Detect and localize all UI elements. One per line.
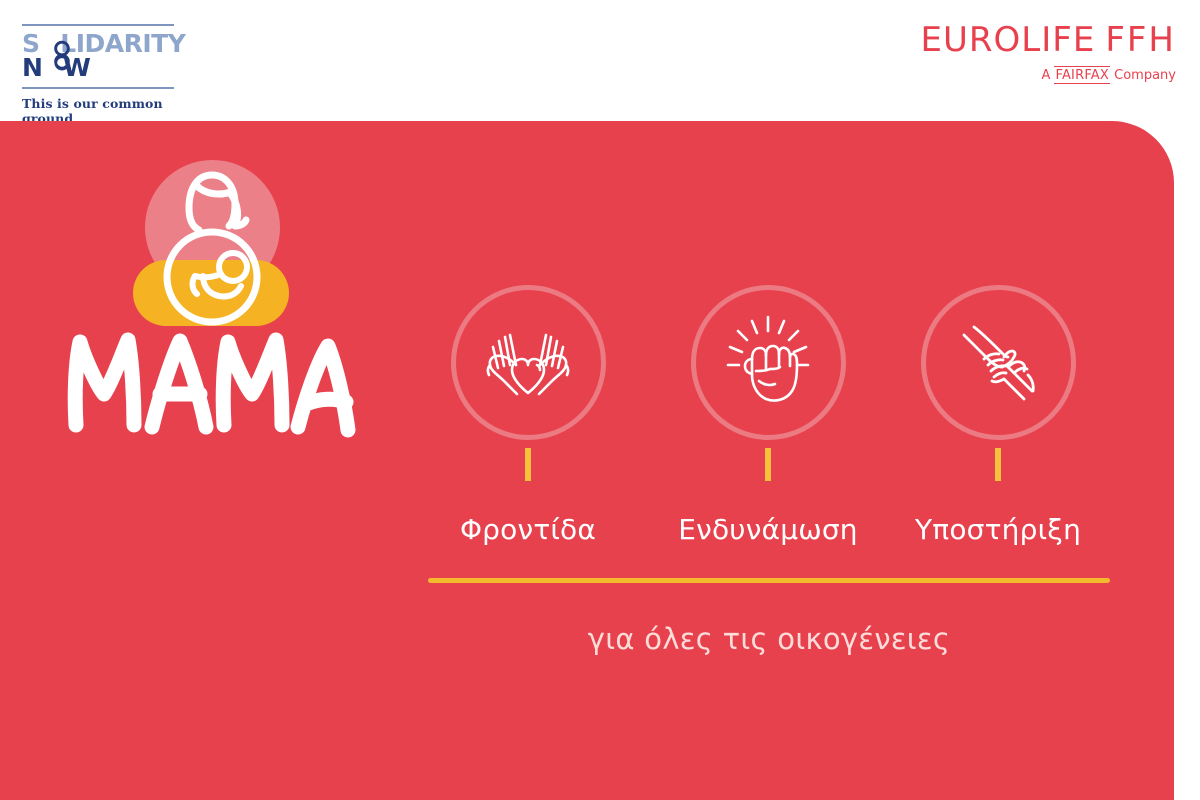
- hands-holding-heart-icon: [474, 309, 582, 417]
- fairfax-company-line: A FAIRFAX Company: [921, 68, 1176, 83]
- solidarity-now-wordmark: SOLIDARITY NOW: [22, 31, 174, 83]
- pillar-circle: [451, 285, 606, 440]
- eurolife-ffh-logo: EUROLIFEFFH A FAIRFAX Company: [921, 22, 1176, 83]
- pillar-stem: [525, 448, 531, 481]
- pillar-label: Υποστήριξη: [898, 513, 1098, 546]
- helping-hands-icon: [944, 309, 1052, 417]
- pillar-label: Ενδυνάμωση: [668, 513, 868, 546]
- pillar-stem: [995, 448, 1001, 481]
- eurolife-wordmark: EUROLIFEFFH: [921, 22, 1176, 58]
- pillar-empowerment: Ενδυνάμωση: [668, 285, 868, 546]
- pillar-label: Φροντίδα: [428, 513, 628, 546]
- page-title: MAMA: [60, 322, 360, 442]
- raised-fist-icon: [714, 309, 822, 417]
- pillar-care: Φροντίδα: [428, 285, 628, 546]
- logo-rule-bottom: [22, 87, 174, 89]
- pillar-circle: [691, 285, 846, 440]
- page-header: SOLIDARITY NOW This is our common ground…: [0, 0, 1200, 121]
- pillar-circle: [921, 285, 1076, 440]
- solidarity-now-logo: SOLIDARITY NOW This is our common ground: [22, 24, 202, 126]
- pillars-group: Φροντίδα: [428, 285, 1118, 595]
- footer-tagline: για όλες τις οικογένειες: [428, 622, 1110, 656]
- pillar-stem: [765, 448, 771, 481]
- yellow-divider-line: [428, 578, 1110, 583]
- logo-rule-top: [22, 24, 174, 26]
- mother-and-baby-icon: [145, 164, 279, 329]
- chain-link-icon: [52, 39, 72, 77]
- mama-brand-block: MAMA: [60, 160, 400, 460]
- pillar-support: Υποστήριξη: [898, 285, 1098, 546]
